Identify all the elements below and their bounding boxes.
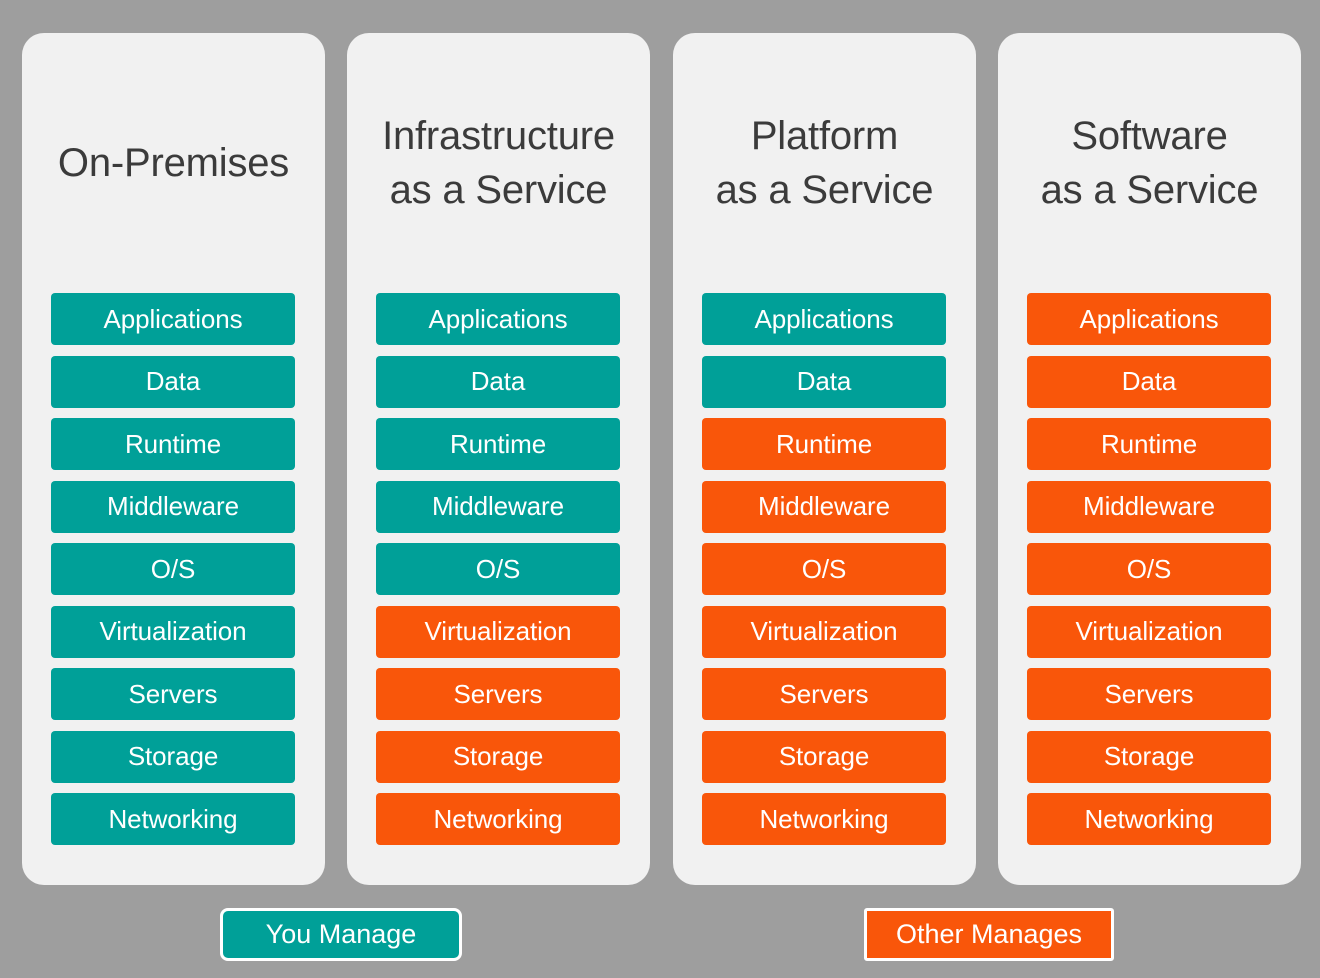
column-title-infrastructure-as-a-service: Infrastructure as a Service — [347, 103, 650, 223]
layer-data[interactable]: Data — [1027, 356, 1271, 408]
layer-networking[interactable]: Networking — [1027, 793, 1271, 845]
layer-stack-on-premises: Applications Data Runtime Middleware O/S… — [51, 293, 295, 845]
column-title-line2: as a Service — [716, 163, 934, 217]
layer-networking[interactable]: Networking — [376, 793, 620, 845]
legend-other-manages: Other Manages — [864, 908, 1114, 961]
layer-storage[interactable]: Storage — [1027, 731, 1271, 783]
legend: You Manage Other Manages — [0, 908, 1320, 966]
column-title-line1: Software — [1071, 109, 1227, 163]
layer-applications[interactable]: Applications — [376, 293, 620, 345]
layer-stack-platform-as-a-service: Applications Data Runtime Middleware O/S… — [702, 293, 946, 845]
column-card-software-as-a-service: Software as a Service Applications Data … — [998, 33, 1301, 885]
layer-middleware[interactable]: Middleware — [51, 481, 295, 533]
column-title-line1: Platform — [751, 109, 898, 163]
column-title-line2: as a Service — [1041, 163, 1259, 217]
layer-runtime[interactable]: Runtime — [376, 418, 620, 470]
layer-applications[interactable]: Applications — [51, 293, 295, 345]
layer-stack-software-as-a-service: Applications Data Runtime Middleware O/S… — [1027, 293, 1271, 845]
layer-runtime[interactable]: Runtime — [702, 418, 946, 470]
layer-applications[interactable]: Applications — [1027, 293, 1271, 345]
column-card-platform-as-a-service: Platform as a Service Applications Data … — [673, 33, 976, 885]
layer-data[interactable]: Data — [376, 356, 620, 408]
layer-data[interactable]: Data — [702, 356, 946, 408]
column-card-on-premises: On-Premises Applications Data Runtime Mi… — [22, 33, 325, 885]
column-title-line1: On-Premises — [58, 136, 289, 190]
column-title-platform-as-a-service: Platform as a Service — [673, 103, 976, 223]
column-title-line1: Infrastructure — [382, 109, 615, 163]
layer-networking[interactable]: Networking — [702, 793, 946, 845]
layer-servers[interactable]: Servers — [1027, 668, 1271, 720]
layer-virtualization[interactable]: Virtualization — [1027, 606, 1271, 658]
layer-data[interactable]: Data — [51, 356, 295, 408]
column-title-on-premises: On-Premises — [22, 103, 325, 223]
layer-stack-infrastructure-as-a-service: Applications Data Runtime Middleware O/S… — [376, 293, 620, 845]
layer-os[interactable]: O/S — [702, 543, 946, 595]
column-title-software-as-a-service: Software as a Service — [998, 103, 1301, 223]
column-card-infrastructure-as-a-service: Infrastructure as a Service Applications… — [347, 33, 650, 885]
service-model-columns: On-Premises Applications Data Runtime Mi… — [0, 33, 1320, 885]
layer-os[interactable]: O/S — [376, 543, 620, 595]
legend-you-manage: You Manage — [220, 908, 462, 961]
layer-virtualization[interactable]: Virtualization — [376, 606, 620, 658]
layer-servers[interactable]: Servers — [702, 668, 946, 720]
layer-middleware[interactable]: Middleware — [1027, 481, 1271, 533]
column-title-line2: as a Service — [390, 163, 608, 217]
layer-middleware[interactable]: Middleware — [702, 481, 946, 533]
layer-storage[interactable]: Storage — [51, 731, 295, 783]
layer-os[interactable]: O/S — [51, 543, 295, 595]
layer-middleware[interactable]: Middleware — [376, 481, 620, 533]
layer-networking[interactable]: Networking — [51, 793, 295, 845]
layer-servers[interactable]: Servers — [376, 668, 620, 720]
layer-applications[interactable]: Applications — [702, 293, 946, 345]
layer-virtualization[interactable]: Virtualization — [51, 606, 295, 658]
layer-os[interactable]: O/S — [1027, 543, 1271, 595]
layer-runtime[interactable]: Runtime — [1027, 418, 1271, 470]
layer-servers[interactable]: Servers — [51, 668, 295, 720]
layer-storage[interactable]: Storage — [702, 731, 946, 783]
layer-virtualization[interactable]: Virtualization — [702, 606, 946, 658]
layer-runtime[interactable]: Runtime — [51, 418, 295, 470]
layer-storage[interactable]: Storage — [376, 731, 620, 783]
